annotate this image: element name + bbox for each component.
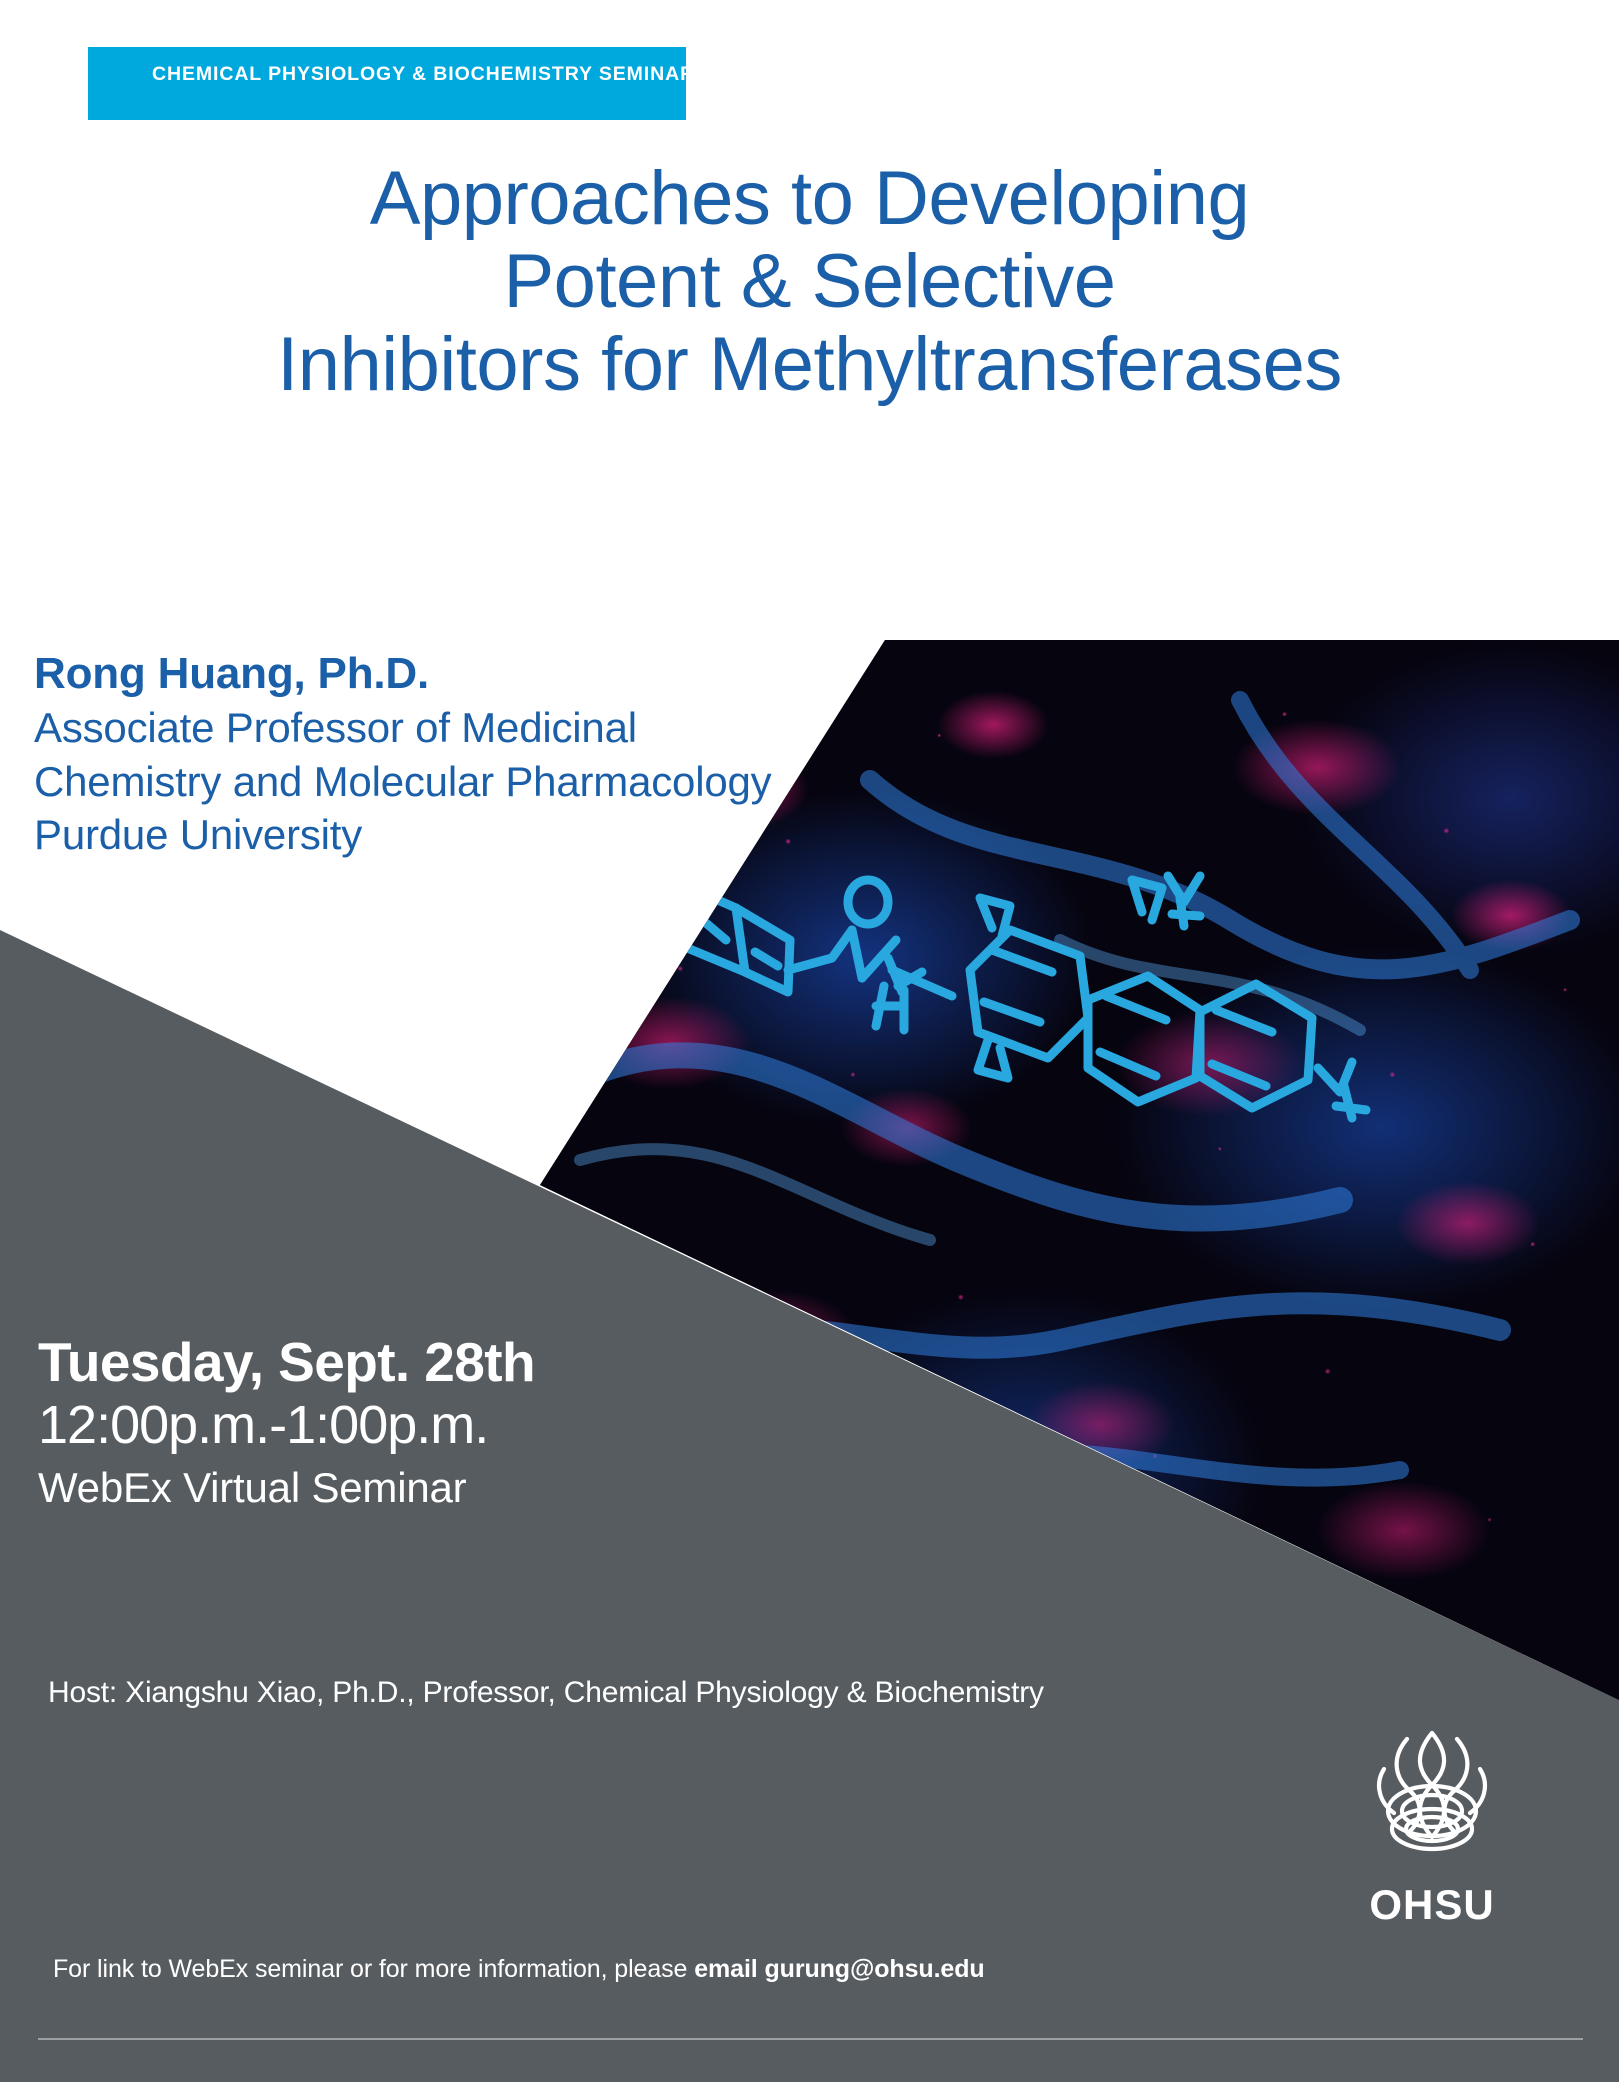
page-title: Approaches to Developing Potent & Select…: [0, 158, 1619, 406]
title-line-3: Inhibitors for Methyltransferases: [0, 324, 1619, 407]
ohsu-wordmark: OHSU: [1332, 1881, 1532, 1929]
event-format: WebEx Virtual Seminar: [38, 1456, 798, 1519]
footer-divider: [38, 2038, 1583, 2040]
molecule-drawing: [560, 855, 1366, 1118]
speaker-institution: Purdue University: [34, 808, 934, 861]
event-date: Tuesday, Sept. 28th: [38, 1332, 798, 1394]
seminar-series-label: CHEMICAL PHYSIOLOGY & BIOCHEMISTRY SEMIN…: [152, 63, 778, 86]
speaker-affiliation-line-2: Chemistry and Molecular Pharmacology: [34, 755, 934, 808]
ohsu-flame-mark: [1362, 1725, 1502, 1875]
seminar-poster: CHEMICAL PHYSIOLOGY & BIOCHEMISTRY SEMIN…: [0, 0, 1619, 2082]
speaker-block: Rong Huang, Ph.D. Associate Professor of…: [34, 646, 934, 861]
footer-lead-text: For link to WebEx seminar or for more in…: [53, 1955, 694, 1983]
footer-email-emphasis[interactable]: email gurung@ohsu.edu: [694, 1955, 984, 1983]
event-details-block: Tuesday, Sept. 28th 12:00p.m.-1:00p.m. W…: [38, 1332, 798, 1519]
speaker-affiliation-line-1: Associate Professor of Medicinal: [34, 701, 934, 754]
title-line-1: Approaches to Developing: [0, 158, 1619, 241]
speaker-name: Rong Huang, Ph.D.: [34, 646, 934, 701]
host-line: Host: Xiangshu Xiao, Ph.D., Professor, C…: [48, 1676, 1044, 1710]
ohsu-logo: OHSU: [1332, 1725, 1532, 1955]
event-time: 12:00p.m.-1:00p.m.: [38, 1394, 798, 1457]
title-line-2: Potent & Selective: [0, 241, 1619, 324]
footer-contact-line: For link to WebEx seminar or for more in…: [53, 1955, 985, 1984]
